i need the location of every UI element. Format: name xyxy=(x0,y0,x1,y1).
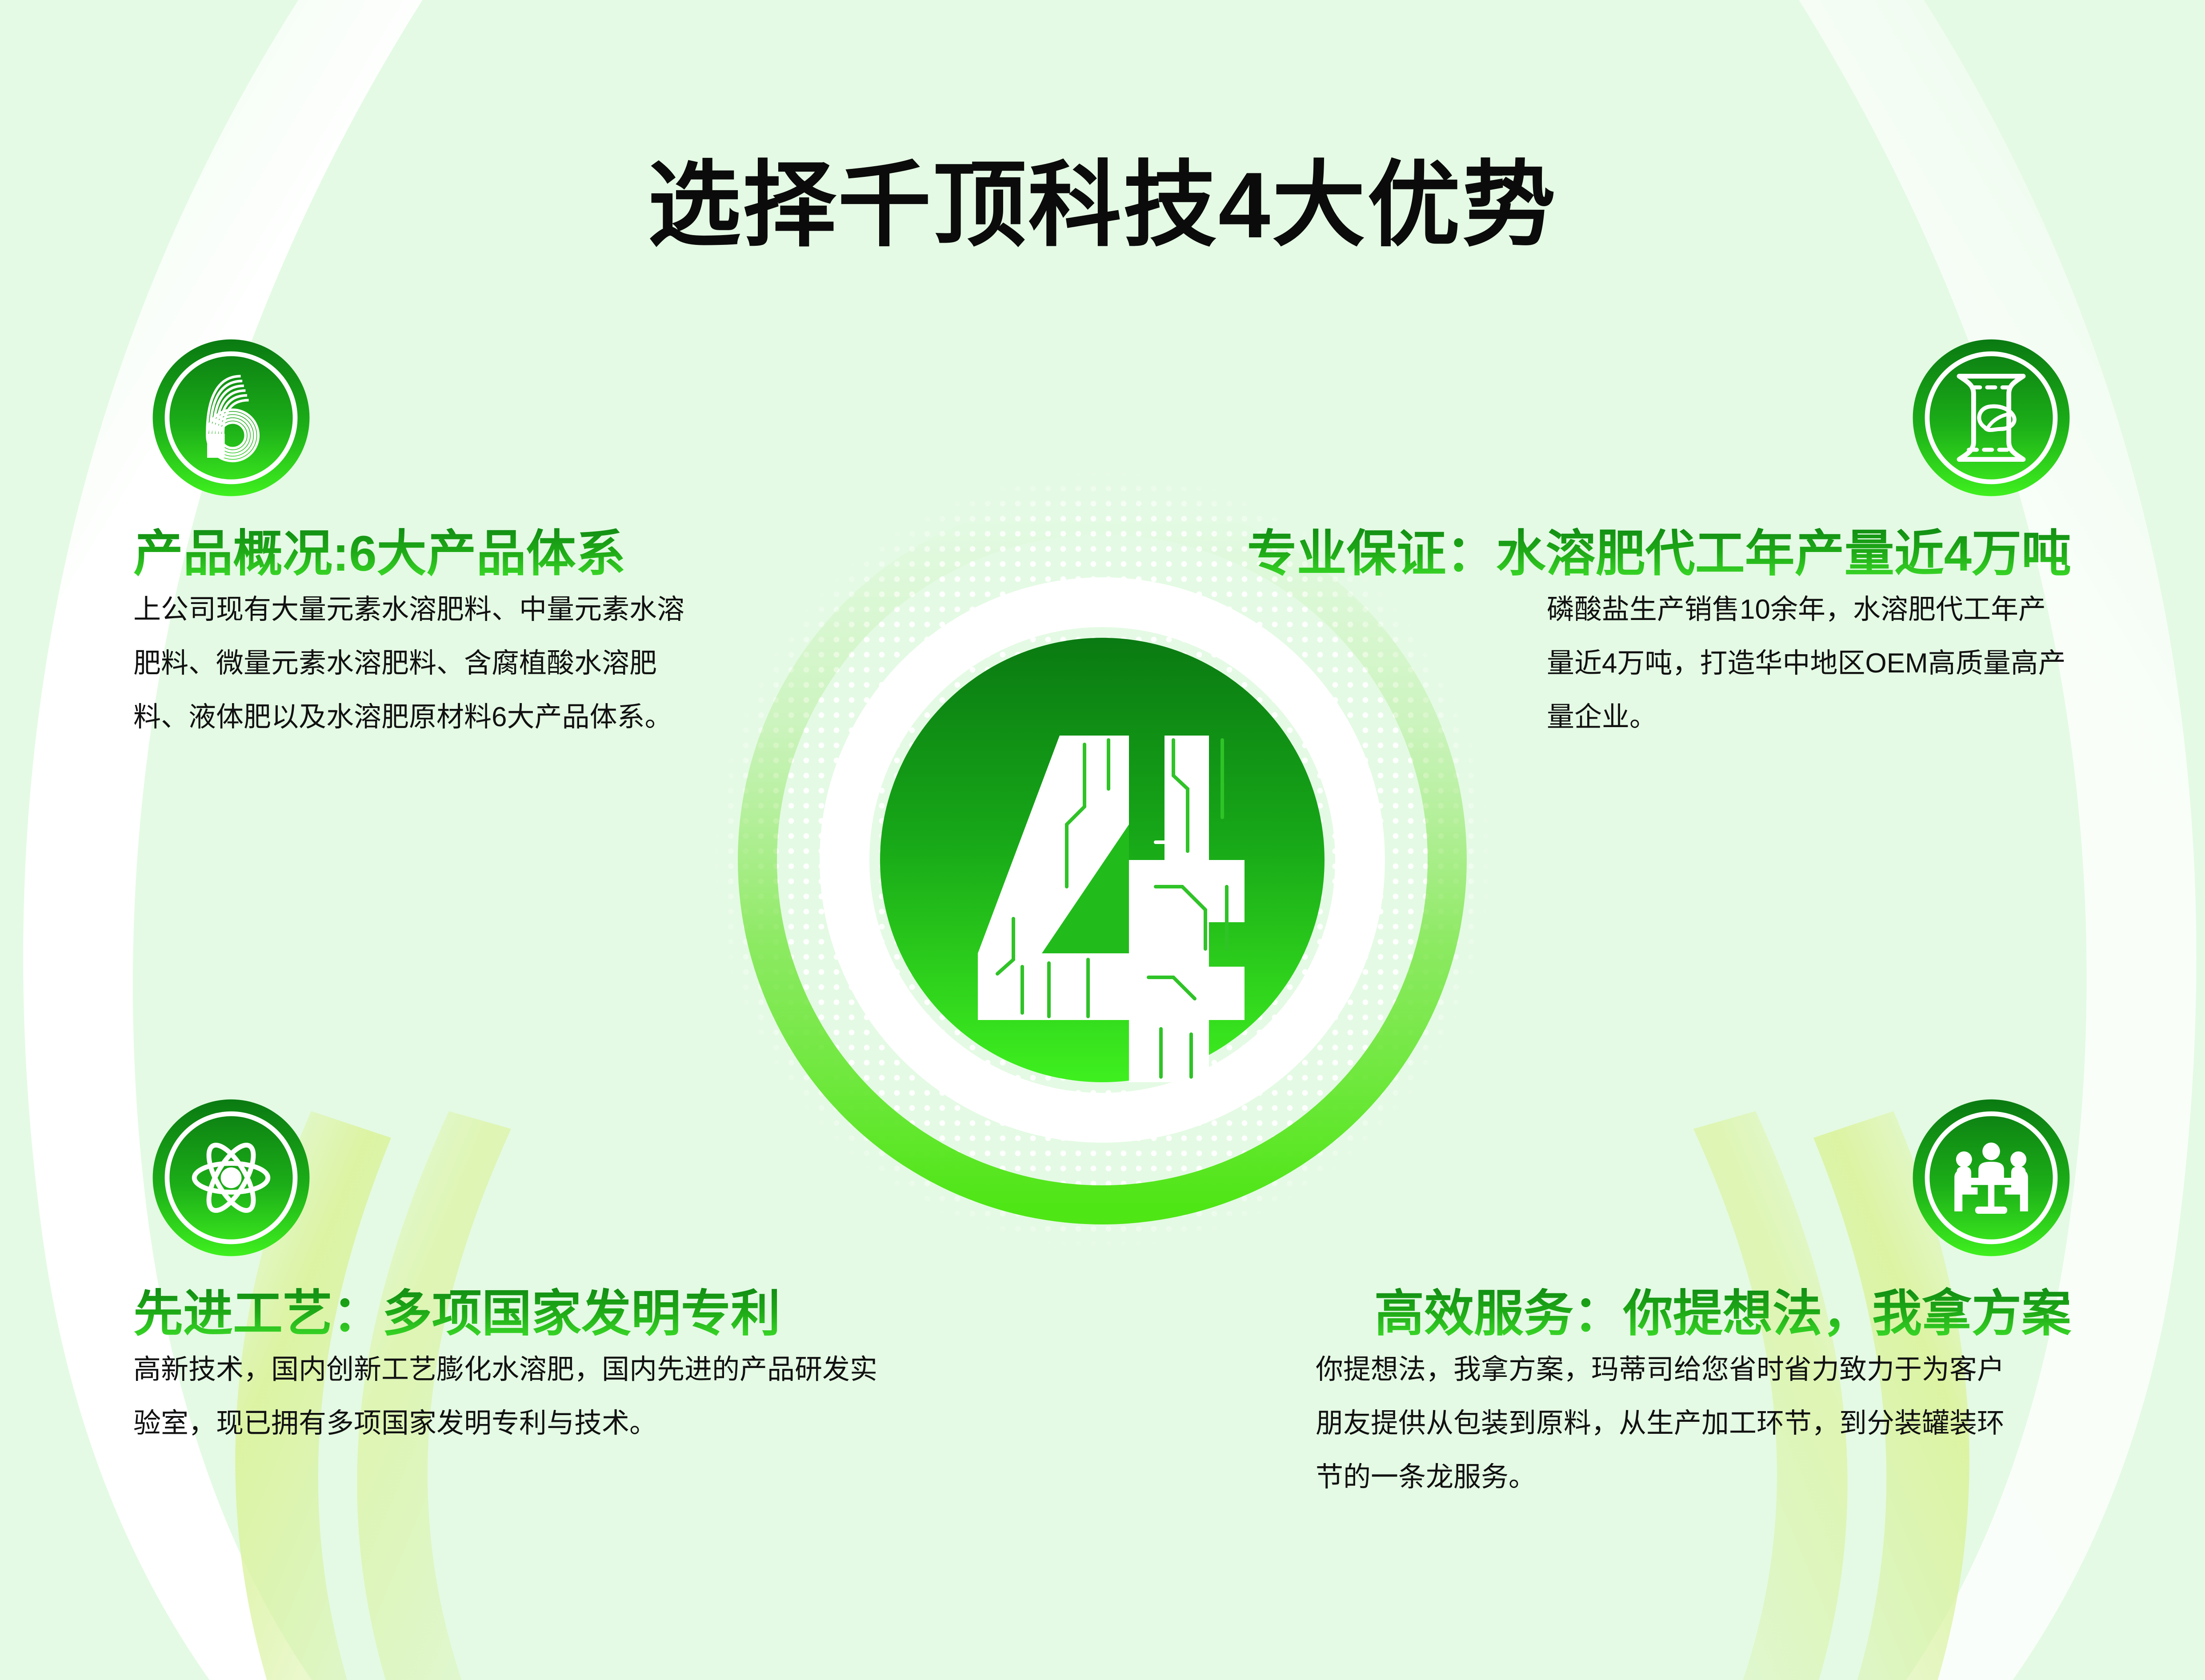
advantage-body: 你提想法，我拿方案，玛蒂司给您省时省力致力于为客户朋友提供从包装到原料，从生产加… xyxy=(1316,1343,2009,1504)
atom-icon xyxy=(151,1098,311,1258)
meeting-table-people-icon xyxy=(1911,1098,2071,1258)
number-six-spiral-icon xyxy=(151,338,311,498)
advantage-heading: 专业保证：水溶肥代工年产量近4万吨 xyxy=(1200,524,2071,583)
advantage-heading: 产品概况:6大产品体系 xyxy=(133,524,707,583)
advantage-heading: 先进工艺：多项国家发明专利 xyxy=(133,1284,880,1343)
advantage-body: 上公司现有大量元素水溶肥料、中量元素水溶肥料、微量元素水溶肥料、含腐植酸水溶肥料… xyxy=(133,583,707,744)
fertilizer-bag-icon xyxy=(1911,338,2071,498)
infographic-stage: 选择千顶科技4大优势 xyxy=(0,0,2205,1680)
advantage-body: 磷酸盐生产销售10余年，水溶肥代工年产量近4万吨，打造华中地区OEM高质量高产量… xyxy=(1547,583,2071,744)
advantage-body: 高新技术，国内创新工艺膨化水溶肥，国内先进的产品研发实验室，现已拥有多项国家发明… xyxy=(133,1343,880,1451)
advantage-heading: 高效服务：你提想法，我拿方案 xyxy=(1316,1284,2071,1343)
page-title: 选择千顶科技4大优势 xyxy=(0,152,2205,259)
